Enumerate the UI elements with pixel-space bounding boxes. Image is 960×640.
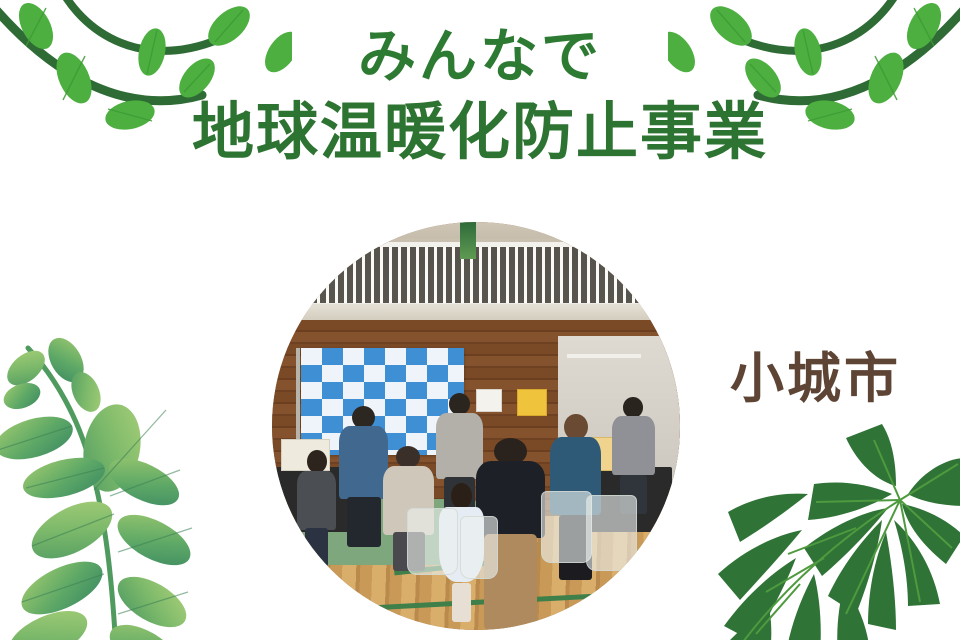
photo-yellow-sign — [517, 389, 548, 415]
branch-leaves — [0, 332, 198, 640]
photo-plastic-bag-3 — [407, 508, 458, 575]
branch-leaf-veins — [0, 410, 192, 614]
photo-balcony-railing — [272, 242, 680, 307]
photo-plastic-bag-1 — [541, 491, 592, 562]
photo-plastic-bag-2 — [586, 495, 637, 570]
photo-plastic-bag-4 — [460, 516, 499, 579]
event-photo-circle: 体育館で行われた資源回収・リユースイベントの様子 — [272, 222, 680, 630]
leaf-branch-decoration — [0, 330, 244, 640]
headline-line-2: 地球温暖化防止事業 — [0, 102, 960, 164]
photo-child-left — [296, 450, 337, 564]
headline-line-1: みんなで — [0, 28, 960, 86]
city-name-label: 小城市 — [730, 334, 901, 413]
monstera-leaf-decoration — [696, 424, 960, 640]
photo-green-curtain — [460, 222, 476, 259]
monstera-blades — [716, 424, 960, 640]
branch-main-stem — [28, 348, 116, 640]
poster-canvas: みんなで 地球温暖化防止事業 小城市 — [0, 0, 960, 640]
poster-headline: みんなで 地球温暖化防止事業 — [0, 28, 960, 164]
monstera-veins — [740, 440, 958, 640]
event-photo-scene — [272, 222, 680, 630]
